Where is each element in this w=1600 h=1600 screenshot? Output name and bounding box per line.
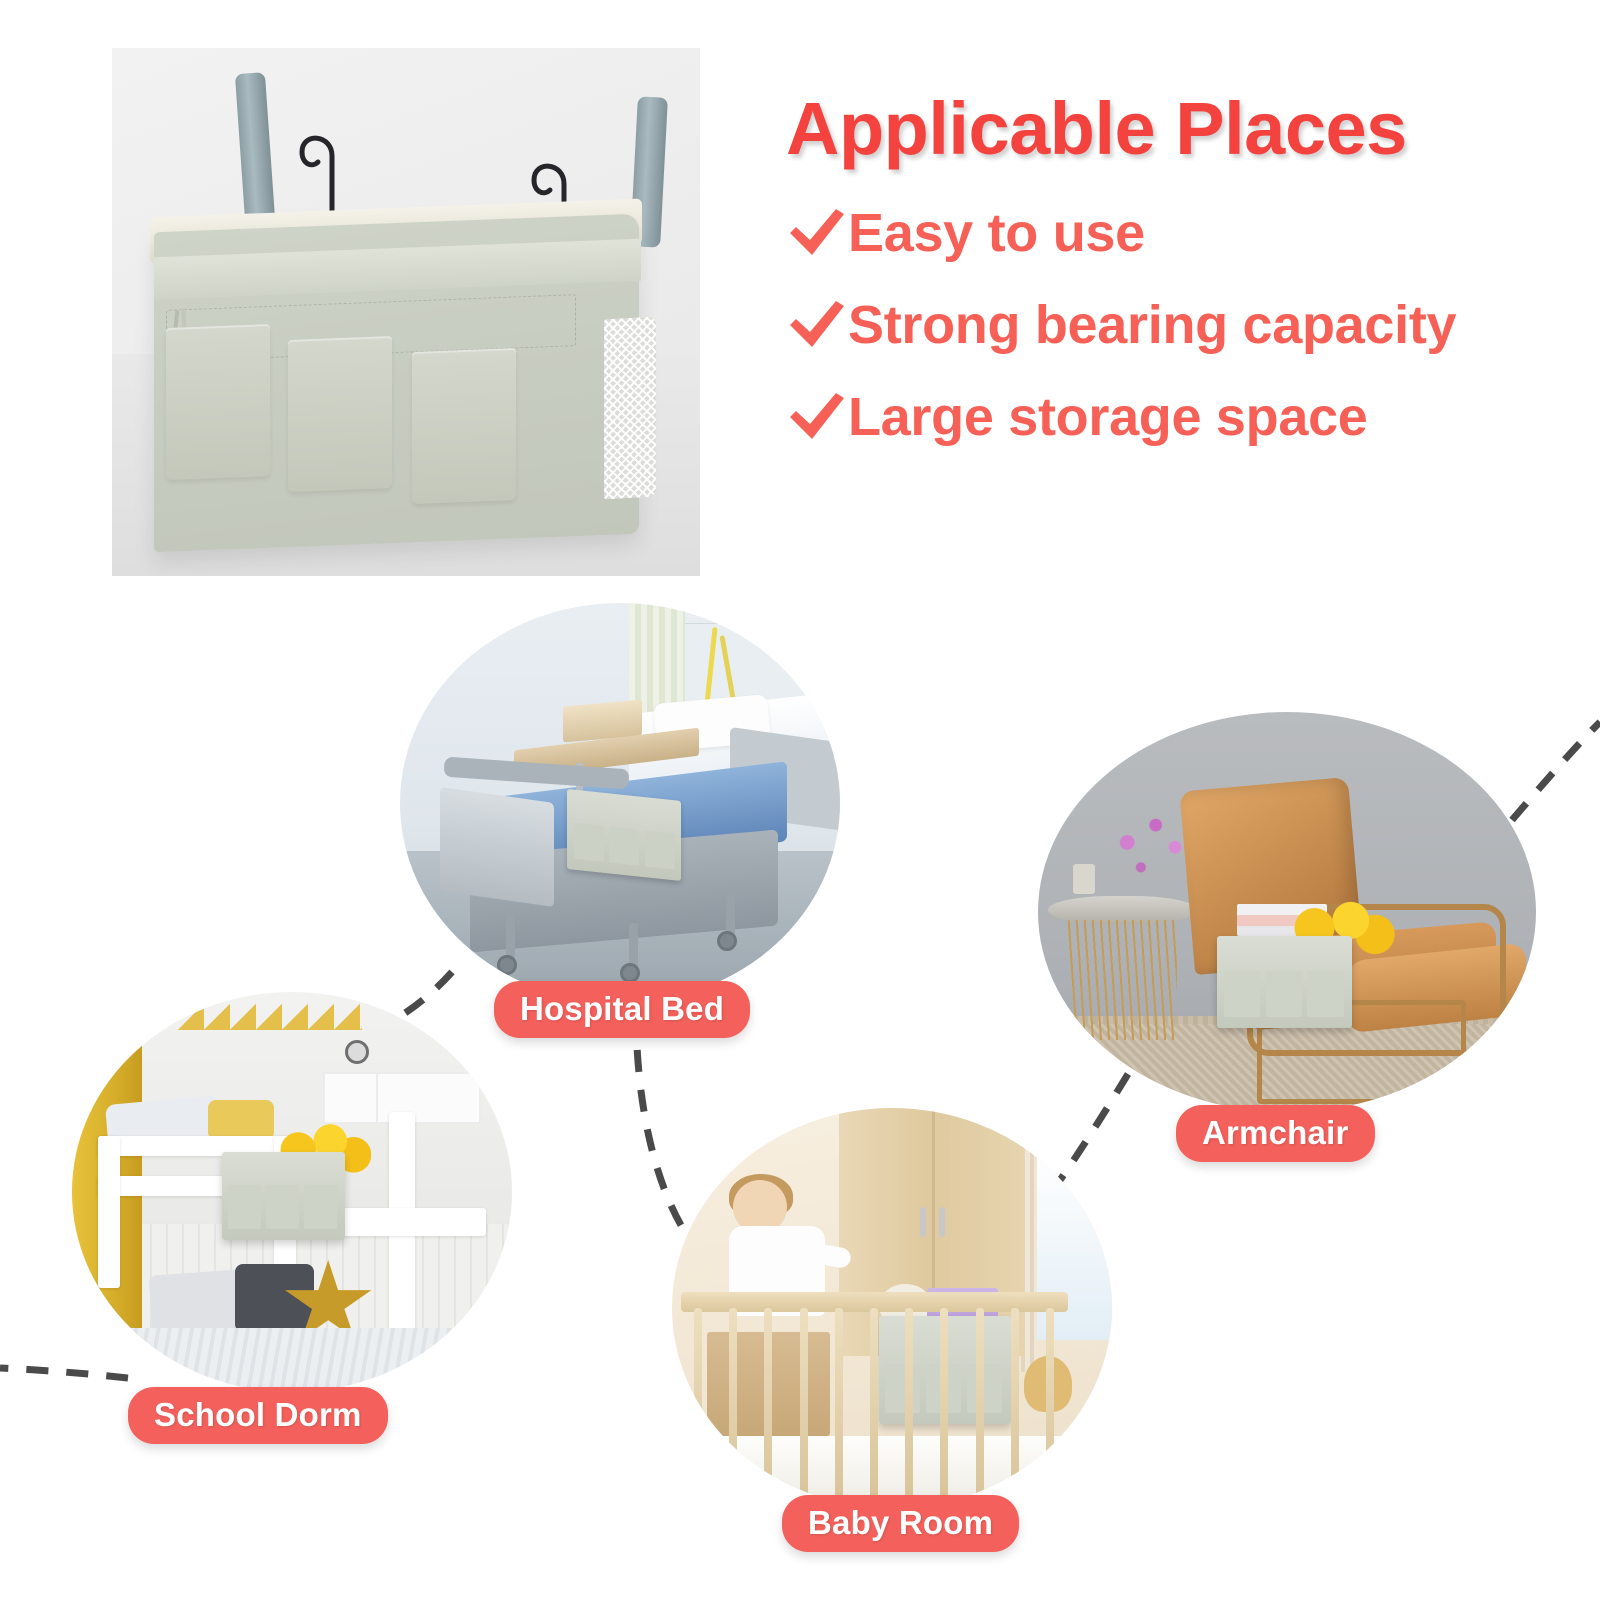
front-pocket-2 — [288, 336, 392, 492]
crib-bar — [835, 1308, 843, 1500]
feature-item-large-storage-space: Large storage space — [786, 390, 1566, 444]
crib-bar — [870, 1308, 878, 1500]
caddy-pocket — [1307, 971, 1343, 1017]
hanging-strap-left — [235, 72, 275, 222]
feature-label: Large storage space — [848, 390, 1368, 444]
feature-label: Strong bearing capacity — [848, 298, 1456, 352]
caddy-pocket — [228, 1185, 261, 1229]
scene-baby-room — [672, 1108, 1112, 1508]
feature-item-easy-to-use: Easy to use — [786, 206, 1566, 260]
hospital-caster-wheel — [620, 963, 640, 983]
infographic-canvas: Applicable Places Easy to use Strong bea… — [0, 0, 1600, 1600]
front-pocket-3 — [412, 348, 516, 504]
caddy-pocket — [266, 1185, 299, 1229]
crib-bar — [800, 1308, 808, 1500]
toddler — [729, 1180, 843, 1348]
crib-bar — [1046, 1308, 1054, 1500]
scene-hospital-bed — [400, 603, 840, 1003]
dorm-yellow-pillow — [208, 1100, 274, 1140]
scene-label-baby-room[interactable]: Baby Room — [782, 1495, 1019, 1552]
mesh-side-pocket — [604, 317, 656, 500]
crib-bar — [976, 1308, 984, 1500]
scene-label-school-dorm[interactable]: School Dorm — [128, 1387, 388, 1444]
caddy-on-hospital-bed — [567, 789, 681, 881]
crib-bar — [940, 1308, 948, 1500]
bunk-lower-rail — [336, 1208, 486, 1236]
check-icon — [786, 299, 848, 351]
side-table-legs — [1068, 920, 1178, 1040]
product-hero-photo — [112, 48, 700, 576]
caddy-pocket — [610, 826, 640, 865]
flower-vase — [1073, 864, 1095, 894]
alarm-clock — [345, 1040, 369, 1064]
caddy-pocket — [645, 830, 675, 869]
scene-school-dorm — [72, 992, 512, 1392]
caddy-pocket — [304, 1185, 337, 1229]
dorm-bunting — [178, 1004, 363, 1040]
caddy-on-armchair — [1217, 936, 1351, 1028]
scene-school-dorm-image — [72, 992, 512, 1392]
page-title: Applicable Places — [786, 92, 1566, 166]
feature-label: Easy to use — [848, 206, 1145, 260]
hospital-caster-wheel — [497, 955, 517, 975]
scene-armchair-image — [1038, 712, 1536, 1112]
caddy-pocket — [885, 1364, 919, 1414]
headline-block: Applicable Places Easy to use Strong bea… — [786, 92, 1566, 482]
scene-label-hospital-bed[interactable]: Hospital Bed — [494, 981, 750, 1038]
hospital-caster-wheel — [717, 931, 737, 951]
wardrobe-handle — [939, 1207, 945, 1237]
feature-list: Easy to use Strong bearing capacity Larg… — [786, 206, 1566, 444]
scene-baby-room-image — [672, 1108, 1112, 1508]
wardrobe-handle — [920, 1207, 926, 1237]
dorm-duvet — [116, 1328, 477, 1392]
bunk-post-left — [98, 1136, 120, 1288]
scene-label-armchair[interactable]: Armchair — [1176, 1105, 1375, 1162]
crib-bar — [764, 1308, 772, 1500]
crib-bar — [694, 1308, 702, 1500]
caddy-pocket — [1224, 971, 1260, 1017]
hospital-footboard — [440, 787, 554, 907]
scene-hospital-bed-image — [400, 603, 840, 1003]
caddy-on-bunk-bed — [222, 1152, 345, 1240]
feature-item-strong-bearing-capacity: Strong bearing capacity — [786, 298, 1566, 352]
crib-bar — [729, 1308, 737, 1500]
caddy-pocket — [1266, 971, 1302, 1017]
caddy-pocket — [574, 823, 604, 862]
crib-bar — [905, 1308, 913, 1500]
front-pocket-1 — [166, 324, 270, 480]
crib-bar — [1011, 1308, 1019, 1500]
check-icon — [786, 391, 848, 443]
check-icon — [786, 207, 848, 259]
caddy-pocket — [967, 1364, 1001, 1414]
scene-armchair — [1038, 712, 1536, 1112]
